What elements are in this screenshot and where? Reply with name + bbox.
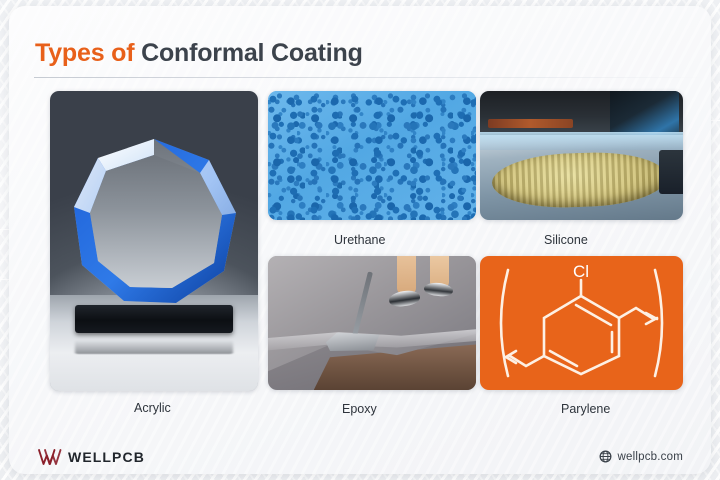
- title-divider: [34, 77, 706, 78]
- page-title-rest: Conformal Coating: [141, 39, 363, 67]
- infographic-card: Types of Conformal Coating: [9, 6, 711, 474]
- w-monogram-icon: [37, 448, 63, 466]
- caption-parylene: Parylene: [561, 402, 610, 416]
- urethane-sponge-texture: [268, 91, 476, 220]
- parylene-structure-icon: Cl: [480, 256, 683, 390]
- caption-urethane: Urethane: [334, 233, 385, 247]
- wellpcb-logo[interactable]: WELLPCB: [37, 448, 145, 466]
- silicone-side-bracket: [659, 150, 683, 194]
- website-link[interactable]: wellpcb.com: [599, 450, 683, 463]
- globe-icon: [599, 450, 612, 463]
- acrylic-base: [75, 305, 233, 333]
- silicone-glass-edge: [480, 132, 683, 150]
- acrylic-reflection: [75, 340, 233, 354]
- website-text: wellpcb.com: [618, 451, 683, 463]
- wellpcb-logo-text: WELLPCB: [68, 449, 145, 465]
- panel-silicone[interactable]: [480, 91, 683, 220]
- epoxy-scene: [268, 256, 476, 390]
- panel-epoxy[interactable]: [268, 256, 476, 390]
- silicone-scene: [480, 91, 683, 220]
- caption-silicone: Silicone: [544, 233, 588, 247]
- caption-epoxy: Epoxy: [342, 402, 377, 416]
- parylene-cl-label: Cl: [573, 262, 589, 281]
- silicone-rail: [488, 119, 573, 128]
- panel-urethane[interactable]: [268, 91, 476, 220]
- panel-acrylic[interactable]: [50, 91, 258, 391]
- acrylic-trophy-icon: [66, 133, 242, 309]
- page-title: Types of Conformal Coating: [35, 39, 363, 68]
- epoxy-worker-leg-left: [397, 256, 416, 294]
- panel-parylene[interactable]: Cl: [480, 256, 683, 390]
- caption-acrylic: Acrylic: [134, 401, 171, 415]
- page-title-highlight: Types of: [35, 39, 134, 67]
- infographic-stage: Types of Conformal Coating: [0, 0, 720, 480]
